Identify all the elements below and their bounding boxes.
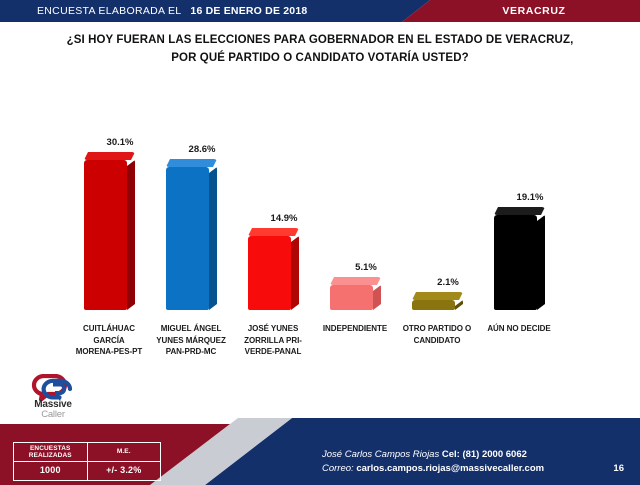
contact-email-label: Correo: — [322, 463, 356, 474]
category-label: OTRO PARTIDO OCANDIDATO — [391, 323, 483, 346]
bar-value-label: 28.6% — [162, 144, 242, 155]
header-date: 16 DE ENERO DE 2018 — [190, 5, 307, 17]
bar-front-face — [330, 285, 373, 310]
category-label-line: OTRO PARTIDO O — [391, 323, 483, 335]
bar[interactable] — [494, 207, 545, 310]
bar-side-face — [291, 236, 299, 310]
category-label: MIGUEL ÁNGELYUNES MÁRQUEZPAN-PRD-MC — [145, 323, 237, 358]
bar-top-face — [494, 207, 545, 215]
page-title: ¿SI HOY FUERAN LAS ELECCIONES PARA GOBER… — [40, 31, 600, 67]
massive-caller-logo: Massive Caller — [22, 374, 84, 418]
table-cell-margin-error: +/- 3.2% — [88, 462, 161, 480]
category-label: AÚN NO DECIDE — [473, 323, 565, 335]
slide-root: ENCUESTA ELABORADA EL 16 DE ENERO DE 201… — [0, 0, 640, 485]
bar-top-face — [84, 152, 135, 160]
bar-value-label: 19.1% — [490, 192, 570, 203]
bar-top-face — [248, 228, 299, 236]
bar-chart: 30.1%28.6%14.9%5.1%2.1%19.1% CUITLÁHUACG… — [0, 95, 640, 380]
bar-front-face — [166, 167, 209, 310]
contact-email: carlos.campos.riojas@massivecaller.com — [356, 463, 544, 474]
bar[interactable] — [248, 228, 299, 310]
sample-size-table: ENCUESTAS REALIZADAS M.E. 1000 +/- 3.2% — [13, 442, 161, 481]
category-label-line: GARCÍA — [63, 335, 155, 347]
category-label-line: PAN-PRD-MC — [145, 346, 237, 358]
header-state: VERACRUZ — [428, 0, 640, 22]
header-label: ENCUESTA ELABORADA EL — [37, 5, 181, 17]
category-label: INDEPENDIENTE — [309, 323, 401, 335]
bar-front-face — [84, 160, 127, 310]
bar-group: 28.6% — [162, 95, 242, 320]
bar-side-face — [209, 167, 217, 310]
category-label: CUITLÁHUACGARCÍAMORENA-PES-PT — [63, 323, 155, 358]
bar-group: 14.9% — [244, 95, 324, 320]
bar-side-face — [537, 215, 545, 310]
category-label-line: JOSÉ YUNES — [227, 323, 319, 335]
category-label-line: CANDIDATO — [391, 335, 483, 347]
bar-value-label: 14.9% — [244, 213, 324, 224]
bar-side-face — [127, 160, 135, 310]
bar-front-face — [248, 236, 291, 310]
bar-top-face — [166, 159, 217, 167]
table-cell-sample-size: 1000 — [14, 462, 88, 480]
header-date-group: ENCUESTA ELABORADA EL 16 DE ENERO DE 201… — [37, 0, 307, 22]
category-label-line: INDEPENDIENTE — [309, 323, 401, 335]
bar-group: 19.1% — [490, 95, 570, 320]
bar-value-label: 2.1% — [408, 277, 488, 288]
category-label-line: VERDE-PANAL — [227, 346, 319, 358]
bar-group: 30.1% — [80, 95, 160, 320]
chart-category-axis: CUITLÁHUACGARCÍAMORENA-PES-PTMIGUEL ÁNGE… — [0, 323, 640, 380]
category-label-line: MIGUEL ÁNGEL — [145, 323, 237, 335]
footer-bar: ENCUESTAS REALIZADAS M.E. 1000 +/- 3.2% … — [0, 418, 640, 485]
table-header-encuestas: ENCUESTAS REALIZADAS — [14, 443, 88, 461]
category-label-line: ZORRILLA PRI- — [227, 335, 319, 347]
category-label-line: AÚN NO DECIDE — [473, 323, 565, 335]
contact-phone: Cel: (81) 2000 6062 — [442, 449, 527, 460]
category-label-line: CUITLÁHUAC — [63, 323, 155, 335]
category-label: JOSÉ YUNESZORRILLA PRI-VERDE-PANAL — [227, 323, 319, 358]
page-number: 16 — [613, 463, 624, 474]
table-header-me: M.E. — [88, 443, 161, 461]
page-title-line2: POR QUÉ PARTIDO O CANDIDATO VOTARÍA USTE… — [40, 49, 600, 67]
bar-side-face — [373, 285, 381, 310]
bar[interactable] — [412, 292, 463, 310]
contact-line-email: Correo: carlos.campos.riojas@massivecall… — [322, 462, 582, 476]
bar-group: 2.1% — [408, 95, 488, 320]
table-row: 1000 +/- 3.2% — [14, 462, 160, 480]
bar-top-face — [412, 292, 463, 300]
speech-bubbles-icon — [31, 374, 73, 401]
bar[interactable] — [330, 277, 381, 310]
chart-plot-area: 30.1%28.6%14.9%5.1%2.1%19.1% — [0, 95, 640, 320]
bar-side-face — [455, 300, 463, 310]
bar-front-face — [494, 215, 537, 310]
table-header-row: ENCUESTAS REALIZADAS M.E. — [14, 443, 160, 462]
table-header-encuestas-l2: REALIZADAS — [29, 452, 72, 459]
contact-info: José Carlos Campos Riojas Cel: (81) 2000… — [322, 448, 582, 476]
bar-front-face — [412, 300, 455, 310]
category-label-line: YUNES MÁRQUEZ — [145, 335, 237, 347]
bar-value-label: 5.1% — [326, 262, 406, 273]
bar[interactable] — [166, 159, 217, 310]
bar[interactable] — [84, 152, 135, 310]
header-bar: ENCUESTA ELABORADA EL 16 DE ENERO DE 201… — [0, 0, 640, 22]
page-title-line1: ¿SI HOY FUERAN LAS ELECCIONES PARA GOBER… — [67, 34, 574, 46]
bar-value-label: 30.1% — [80, 137, 160, 148]
category-label-line: MORENA-PES-PT — [63, 346, 155, 358]
header-underline — [0, 22, 640, 24]
bar-group: 5.1% — [326, 95, 406, 320]
table-header-encuestas-l1: ENCUESTAS — [30, 445, 71, 452]
contact-name: José Carlos Campos Riojas — [322, 449, 442, 460]
header-state-label: VERACRUZ — [502, 5, 565, 17]
contact-line-phone: José Carlos Campos Riojas Cel: (81) 2000… — [322, 448, 582, 462]
logo-wordmark: Massive Caller — [22, 400, 84, 419]
bar-top-face — [330, 277, 381, 285]
